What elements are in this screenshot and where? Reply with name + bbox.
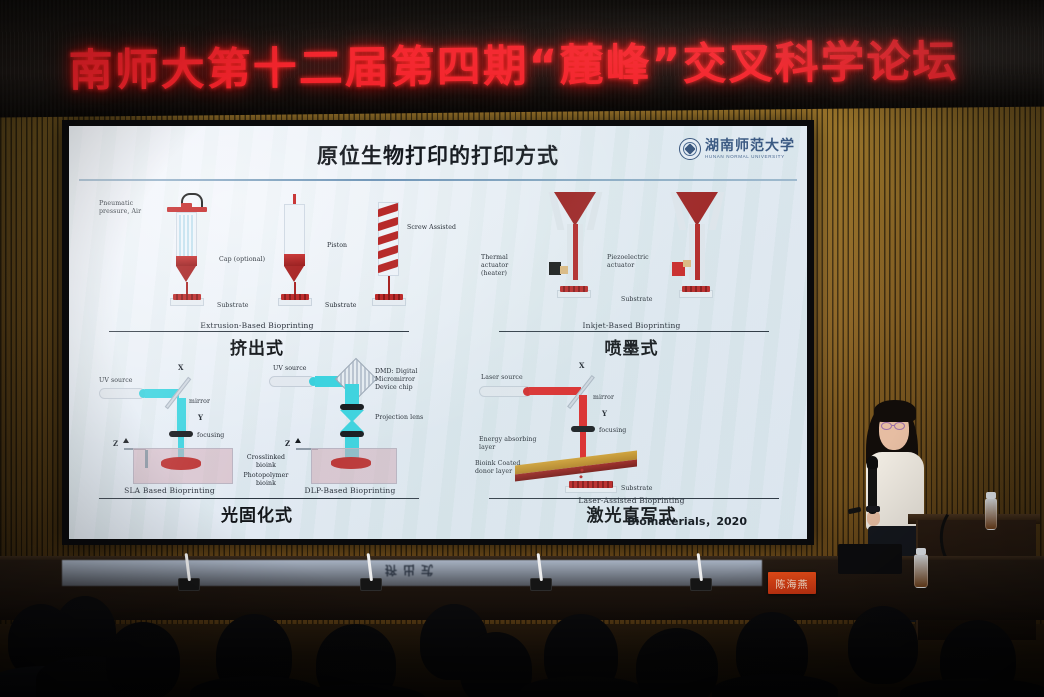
build-platform-sla (145, 450, 148, 468)
university-name-cn: 湖南师范大学 (705, 139, 795, 153)
bioink-column (284, 254, 305, 266)
presenter-glasses-bridge (892, 425, 895, 426)
caption-crosslinked-bioink: Crosslinked bioink (245, 454, 287, 470)
water-bottle-table (914, 554, 928, 588)
heater-element-icon (560, 266, 568, 274)
photopoly-rule (99, 498, 419, 499)
bioink-column (176, 256, 197, 266)
caption-photopolymer-bioink: Photopolymer bioink (243, 472, 289, 488)
printed-droplets (560, 286, 588, 292)
extrusion-label-en: Extrusion-Based Bioprinting (77, 321, 437, 330)
bottle-cap-podium (986, 492, 996, 499)
printed-strand (281, 294, 309, 300)
caption-energy-absorbing-layer: Energy absorbing layer (479, 436, 545, 452)
caption-piezoelectric-actuator: Piezoelectric actuator (607, 254, 661, 270)
inkjet-label-cn-wrap: 喷墨式 (459, 334, 804, 359)
syringe-cone (176, 266, 196, 282)
presenter-watch (866, 506, 880, 512)
presenter-hair-front (874, 400, 916, 422)
laser-rule (489, 498, 779, 499)
reflection-text: 挤出式 (62, 562, 762, 579)
caption-axis-z-sla: Z (113, 440, 118, 449)
presentation-slide: 原位生物打印的打印方式 湖南师范大学 HUNAN NORMAL UNIVERSI… (69, 126, 807, 539)
caption-thermal-actuator: Thermal actuator (heater) (481, 254, 535, 277)
presenter-glasses-left (881, 422, 892, 430)
led-banner: 南师大第十二届第四期“麓峰”交叉科学论坛 (0, 0, 1044, 118)
sla-module: UV source mirror X Y focusing Z (77, 362, 262, 490)
quadrant-extrusion: Pneumatic pressure, Air Cap (optional) S… (77, 184, 437, 334)
inkjet-piezo-head (669, 190, 729, 314)
piezo-element-icon (683, 260, 691, 267)
printed-strand (375, 294, 403, 300)
caption-screw-assisted: Screw Assisted (407, 224, 461, 232)
photopolymerization-label-cn: 光固化式 (77, 501, 437, 526)
nozzle-wall-right (578, 224, 583, 280)
printed-droplets-laser (569, 481, 613, 488)
extrusion-rule (109, 331, 409, 332)
inkjet-rule (499, 331, 769, 332)
caption-bioink-donor-layer: Bioink Coated donor layer (475, 460, 535, 476)
laser-beam-vertical (579, 395, 587, 429)
z-stage-arrow-sla (123, 438, 129, 443)
inkjet-thermal-head (547, 190, 607, 314)
bottle-cap-table (916, 548, 926, 555)
foreground-shadow (0, 605, 1044, 697)
caption-substrate-2: Substrate (325, 302, 357, 310)
desk-microphone-2 (360, 578, 382, 591)
university-name-en: HUNAN NORMAL UNIVERSITY (705, 155, 795, 160)
projection-screen: 原位生物打印的打印方式 湖南师范大学 HUNAN NORMAL UNIVERSI… (62, 120, 814, 545)
caption-dmd-chip: DMD: Digital Micromirror Device chip (375, 368, 433, 391)
extrusion-screw-syringe (367, 198, 413, 316)
sla-label-en: SLA Based Bioprinting (77, 486, 262, 495)
caption-laser-source: Laser source (481, 374, 523, 382)
printed-droplets (682, 286, 710, 292)
quadrant-laser-assisted: Laser source mirror X Y focusing Energy … (459, 362, 804, 502)
presenter-glasses-right (894, 422, 905, 430)
extrusion-label-cn: 挤出式 (77, 334, 437, 359)
inkjet-label-cn: 喷墨式 (459, 334, 804, 359)
desk-microphone-1 (178, 578, 200, 591)
caption-mirror-sla: mirror (189, 398, 210, 406)
water-bottle-podium (985, 498, 997, 530)
syringe-cone (284, 266, 304, 282)
beam-cone-dlp (340, 410, 364, 432)
university-name-block: 湖南师范大学 HUNAN NORMAL UNIVERSITY (705, 139, 795, 160)
caption-axis-y-laser: Y (602, 410, 607, 419)
caption-substrate-1: Substrate (217, 302, 249, 310)
laptop-screen (838, 544, 902, 574)
caption-axis-x-sla: X (178, 364, 184, 373)
screw-auger-icon (378, 204, 400, 274)
nozzle-wall-right (700, 224, 705, 280)
caption-mirror-laser: mirror (593, 394, 614, 402)
caption-focusing-laser: focusing (599, 427, 626, 435)
caption-uv-source-dlp: UV source (273, 365, 307, 373)
microphone-head (867, 456, 878, 469)
desk-microphone-4 (690, 578, 712, 591)
caption-projection-lens: Projection lens (375, 414, 423, 422)
projection-lens-upper (340, 404, 364, 410)
crosslinked-bioink-sla (161, 457, 201, 470)
syringe-barrel (284, 204, 305, 260)
extrusion-label-cn-wrap: 挤出式 (77, 334, 437, 359)
caption-axis-x-laser: X (579, 362, 585, 371)
name-placard: 陈海燕 (768, 572, 816, 594)
caption-substrate-laser: Substrate (621, 485, 653, 493)
crosslinked-bioink-dlp (331, 457, 371, 469)
caption-axis-y-sla: Y (198, 414, 203, 423)
syringe-barrel (176, 212, 197, 260)
caption-pneumatic-pressure: Pneumatic pressure, Air (99, 200, 153, 216)
screen-reflection-on-table: 挤出式 (62, 560, 762, 586)
caption-piston: Piston (327, 242, 347, 250)
quadrant-photopolymerization: UV source mirror X Y focusing Z (77, 362, 437, 502)
z-stage-arrow-dlp (295, 438, 301, 443)
ink-reservoir (554, 192, 596, 226)
printed-strand (173, 294, 201, 300)
lecture-hall-photo: 南师大第十二届第四期“麓峰”交叉科学论坛 原位生物打印的打印方式 湖南师范大学 … (0, 0, 1044, 697)
ink-reservoir (676, 192, 718, 226)
syringe-collar-stem (181, 203, 192, 212)
nozzle-channel (573, 224, 578, 280)
caption-substrate-inkjet: Substrate (621, 296, 653, 304)
caption-focusing-sla: focusing (197, 432, 224, 440)
uv-beam-vertical (177, 398, 186, 434)
presenter-clicker (848, 507, 862, 515)
syringe-needle (388, 276, 390, 296)
caption-uv-source-sla: UV source (99, 377, 133, 385)
dlp-module: UV source DMD: Digital Micromirror Devic… (263, 362, 437, 490)
extrusion-pneumatic-syringe (165, 198, 211, 316)
uv-beam-down-dlp (345, 384, 359, 406)
university-logo: 湖南师范大学 HUNAN NORMAL UNIVERSITY (679, 138, 795, 160)
extrusion-piston-syringe (273, 198, 319, 316)
slide-citation: Biomaterials，2020 (627, 513, 747, 529)
dlp-label-en: DLP-Based Bioprinting (263, 486, 437, 495)
title-divider (79, 179, 797, 181)
university-seal-icon (679, 138, 701, 160)
nozzle-wall-left (689, 224, 694, 280)
inkjet-label-en: Inkjet-Based Bioprinting (459, 321, 804, 330)
desk-microphone-3 (530, 578, 552, 591)
led-banner-text: 南师大第十二届第四期“麓峰”交叉科学论坛 (0, 24, 1044, 99)
nozzle-channel (695, 224, 700, 280)
quadrant-inkjet: Thermal actuator (heater) Piezoelectric … (459, 184, 804, 334)
laser-beam-horizontal (529, 387, 581, 395)
caption-cap-optional: Cap (optional) (219, 256, 273, 264)
photopoly-label-cn-wrap: 光固化式 (77, 501, 437, 526)
caption-axis-z-dlp: Z (285, 440, 290, 449)
